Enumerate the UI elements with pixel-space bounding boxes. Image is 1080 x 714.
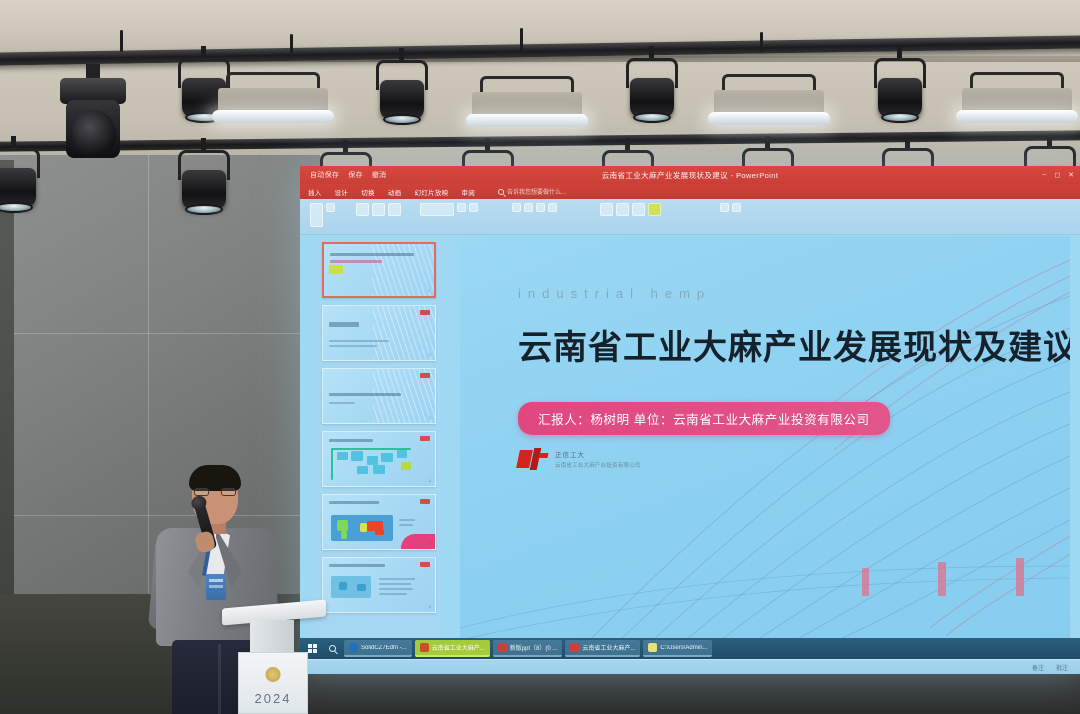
tab-transitions[interactable]: 切换 [361,187,375,197]
slide-thumbnail-4[interactable]: 4 [322,431,436,487]
slide-thumbnail-2[interactable]: 2 [322,305,436,361]
thumb-number: 2 [429,352,431,357]
taskbar-item-label: 云南省工业大麻产... [432,643,485,652]
taskbar-item-2[interactable]: 云南省工业大麻产... [415,640,490,657]
app-icon [570,643,579,652]
status-comments[interactable]: 批注 [1056,663,1068,672]
document-title: 云南省工业大麻产业发展现状及建议 - PowerPoint [300,170,1080,181]
decorative-bar [1016,558,1024,596]
decorative-bar [862,568,869,596]
thumb-number: 1 [428,288,430,293]
moving-head-light [60,48,126,170]
slide-thumbnail-1[interactable]: 1 [322,242,436,298]
minimize-icon[interactable]: – [1042,171,1046,179]
taskbar-item-4[interactable]: 云南省工业大麻产... [565,640,640,657]
status-notes[interactable]: 备注 [1032,663,1044,672]
company-logo-icon [518,448,548,470]
logo-company: 云南省工业大麻产业投资有限公司 [555,461,641,469]
qat-undo[interactable]: 撤消 [372,170,387,180]
company-logo: 正信工大 云南省工业大麻产业投资有限公司 [518,448,641,470]
taskbar-item-label: 新版ppt（8）(0 ... [510,643,558,652]
taskbar-item-1[interactable]: SolidCZ7Edfn -... [344,640,412,657]
powerpoint-title-bar: 自动保存 保存 撤消 云南省工业大麻产业发展现状及建议 - PowerPoint… [300,166,1080,184]
app-icon [420,643,429,652]
tab-animations[interactable]: 动画 [388,187,402,197]
slide-thumbnail-pane[interactable]: 1 2 3 [314,238,442,652]
folder-icon [648,643,657,652]
fresnel-spotlight [374,60,430,126]
group-paragraph[interactable] [512,203,557,212]
truss-cable [290,34,293,54]
ribbon-command-row[interactable] [300,199,1080,235]
group-drawing[interactable] [600,203,661,216]
tab-design[interactable]: 设计 [335,187,349,197]
led-panel-bar [714,90,824,130]
truss-cable [520,28,523,52]
close-icon[interactable]: ✕ [1068,171,1074,179]
led-panel-bar [472,92,582,132]
group-font[interactable] [420,203,478,216]
thumb-number: 4 [429,478,431,483]
qat-save[interactable]: 保存 [348,170,363,180]
slide-eyebrow: industrial hemp [518,286,711,301]
slide-title: 云南省工业大麻产业发展现状及建议 [518,320,1070,369]
taskbar-item-label: SolidCZ7Edfn -... [361,645,407,651]
slide-canvas[interactable]: industrial hemp 云南省工业大麻产业发展现状及建议 汇报人：杨树明… [460,236,1070,650]
lectern-front-panel: 2024 [238,652,308,714]
app-icon [498,643,507,652]
fresnel-spotlight [176,150,232,216]
window-controls[interactable]: – ◻ ✕ [1042,171,1074,179]
fresnel-spotlight [0,148,42,214]
projection-screen: 自动保存 保存 撤消 云南省工业大麻产业发展现状及建议 - PowerPoint… [300,166,1080,674]
lectern-year: 2024 [239,691,307,706]
trouser-seam [218,644,221,714]
app-icon [349,643,358,652]
qat-autosave[interactable]: 自动保存 [310,170,339,180]
windows-taskbar[interactable]: SolidCZ7Edfn -... 云南省工业大麻产... 新版ppt（8）(0… [300,638,1080,659]
lectern-column [250,620,294,654]
tab-insert[interactable]: 插入 [308,187,322,197]
thumb-number: 3 [429,415,431,420]
fresnel-spotlight [872,58,928,124]
quick-access-toolbar[interactable]: 自动保存 保存 撤消 [310,170,386,180]
maximize-icon[interactable]: ◻ [1054,171,1060,179]
event-emblem-icon [266,667,281,682]
logo-name: 正信工大 [555,449,641,459]
fresnel-spotlight [624,58,680,124]
truss-cable [760,32,763,52]
conference-stage-scene: 自动保存 保存 撤消 云南省工业大麻产业发展现状及建议 - PowerPoint… [0,0,1080,714]
group-clipboard[interactable] [310,203,335,227]
presenter-badge: 汇报人：杨树明 单位：云南省工业大麻产业投资有限公司 [518,402,890,435]
led-panel-bar [218,88,328,128]
tab-slideshow[interactable]: 幻灯片放映 [414,187,448,197]
group-editing[interactable] [720,203,741,212]
powerpoint-status-bar[interactable]: 备注 批注 [300,659,1080,674]
ribbon-tab-bar[interactable]: 插入 设计 切换 动画 幻灯片放映 审阅 告诉我您想要做什么... [300,184,1080,199]
lectern: 2024 [222,604,326,714]
search-placeholder: 告诉我您想要做什么... [507,187,566,196]
group-slides[interactable] [356,203,401,216]
tab-review[interactable]: 审阅 [461,187,475,197]
taskbar-item-5[interactable]: C:\Users\Admin... [643,640,712,657]
taskbar-item-label: 云南省工业大麻产... [582,643,635,652]
slide-thumbnail-5[interactable]: 5 [322,494,436,550]
taskbar-item-3[interactable]: 新版ppt（8）(0 ... [493,640,563,657]
search-icon [329,645,336,652]
slide-thumbnail-6[interactable]: 6 [322,557,436,613]
decorative-bar [938,562,946,596]
thumb-number: 5 [429,541,431,546]
tell-me-search[interactable]: 告诉我您想要做什么... [498,187,566,196]
led-panel-bar [962,88,1072,128]
name-badge [206,574,226,600]
slide-thumbnail-3[interactable]: 3 [322,368,436,424]
taskbar-item-label: C:\Users\Admin... [660,645,707,651]
search-icon [498,189,504,195]
thumb-number: 6 [429,604,431,609]
